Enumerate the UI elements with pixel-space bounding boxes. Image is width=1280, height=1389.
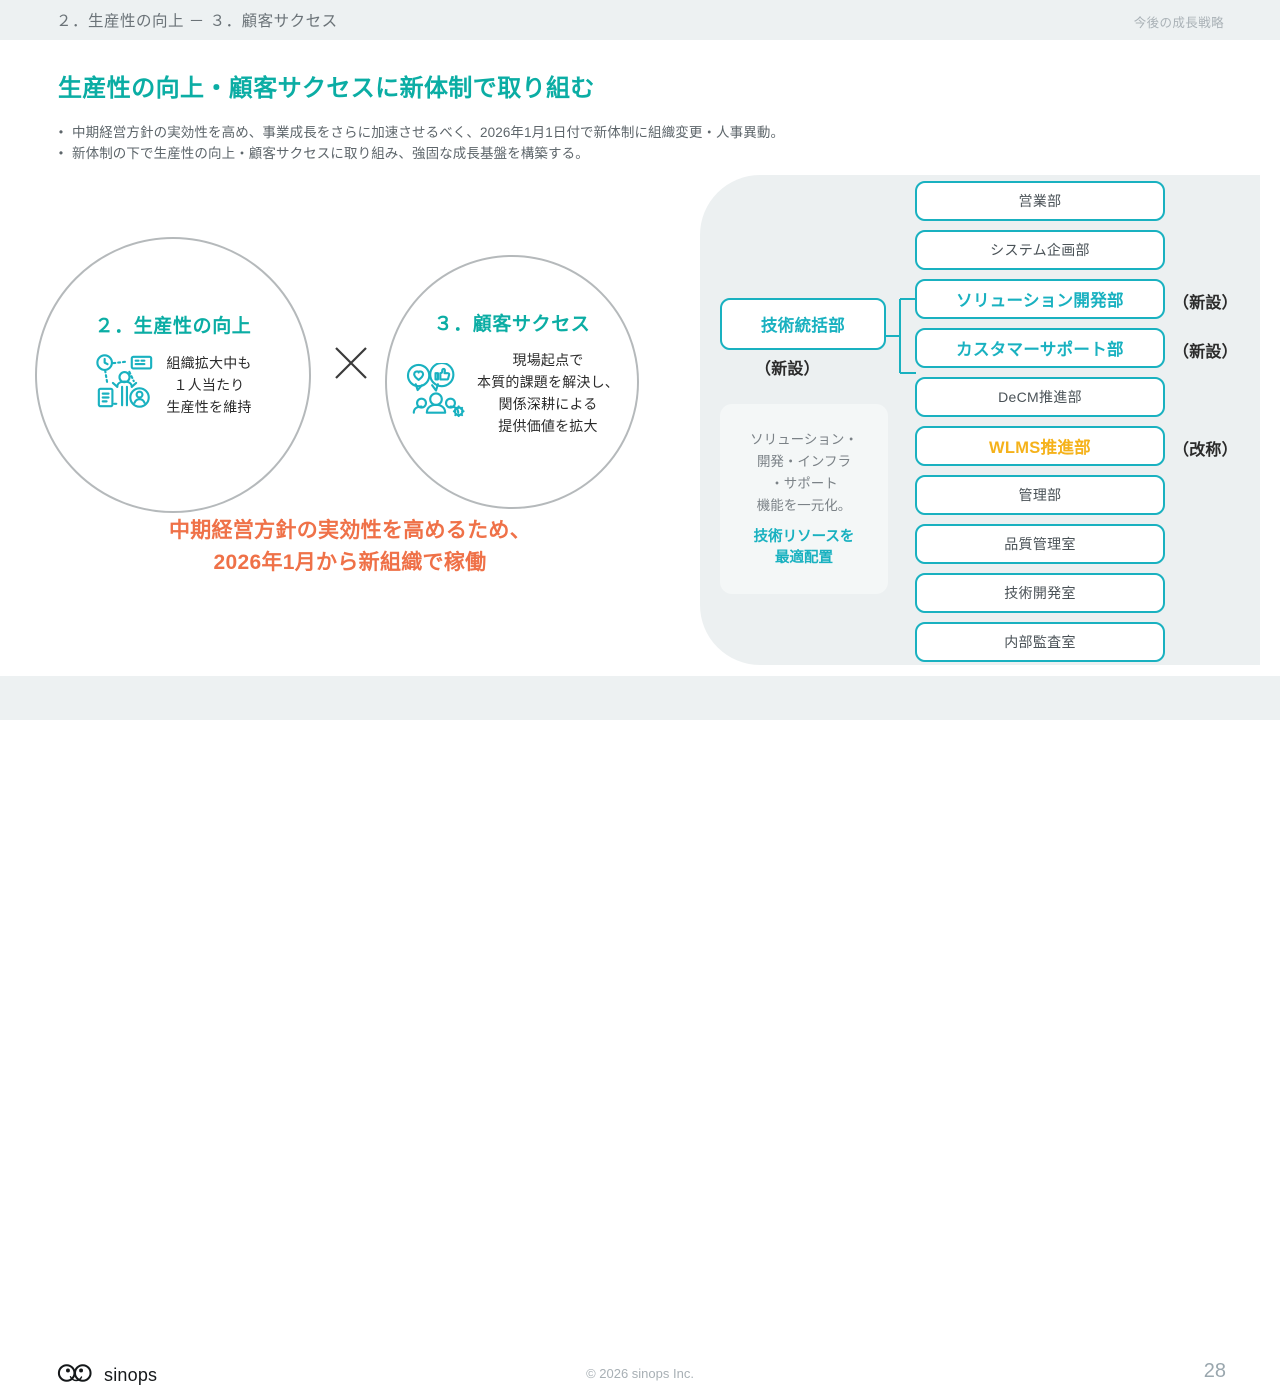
page-number: 28 [1204, 1360, 1226, 1383]
header-section-label: 今後の成長戦略 [1134, 12, 1224, 31]
bullet-item: • 新体制の下で生産性の向上・顧客サクセスに取り組み、強固な成長基盤を構築する。 [50, 143, 784, 164]
header-divider [0, 40, 1280, 41]
circle-customer-success-heading: ３．顧客サクセス [387, 309, 637, 336]
circle-customer-success-body: 現場起点で 本質的課題を解決し、 関係深耕による 提供価値を拡大 [387, 349, 637, 437]
org-department-box[interactable]: システム企画部 [915, 230, 1165, 270]
org-department-box[interactable]: カスタマーサポート部 [915, 328, 1165, 368]
slide-footer: sinops © 2026 sinops Inc. 28 [0, 676, 1280, 720]
org-note-highlight: 技術リソースを 最適配置 [754, 527, 855, 569]
copyright-text: © 2026 sinops Inc. [0, 1366, 1280, 1381]
circle-customer-success-text: 現場起点で 本質的課題を解決し、 関係深耕による 提供価値を拡大 [477, 349, 619, 437]
org-department-box[interactable]: 管理部 [915, 475, 1165, 515]
circle-productivity-heading: ２．生産性の向上 [37, 311, 309, 338]
multiply-icon [330, 342, 372, 384]
circle-productivity: ２．生産性の向上 [35, 237, 311, 513]
bullet-list: • 中期経営方針の実効性を高め、事業成長をさらに加速させるべく、2026年1月1… [50, 122, 784, 164]
org-department-box[interactable]: ソリューション開発部 [915, 279, 1165, 319]
org-parent-tag: （新設） [755, 355, 820, 379]
org-department-tag: （新設） [1173, 338, 1238, 362]
bullet-marker-icon: • [50, 122, 72, 143]
org-department-box[interactable]: WLMS推進部 [915, 426, 1165, 466]
org-department-box[interactable]: 営業部 [915, 181, 1165, 221]
org-department-tag: （改称） [1173, 436, 1238, 460]
org-parent-box-technology-division[interactable]: 技術統括部 [720, 298, 886, 350]
slide-header: ２．生産性の向上 － ３．顧客サクセス 今後の成長戦略 [0, 0, 1280, 40]
productivity-person-icon [94, 351, 156, 418]
slide: ２．生産性の向上 － ３．顧客サクセス 今後の成長戦略 生産性の向上・顧客サクセ… [0, 0, 1280, 720]
org-note-card: ソリューション・ 開発・インフラ ・サポート 機能を一元化。 技術リソースを 最… [720, 404, 888, 594]
cta-message: 中期経営方針の実効性を高めるため、 2026年1月から新組織で稼働 [0, 515, 700, 579]
org-department-box[interactable]: 技術開発室 [915, 573, 1165, 613]
customer-success-icon [405, 363, 467, 424]
org-connector-bracket [886, 297, 918, 375]
org-department-tag: （新設） [1173, 289, 1238, 313]
bullet-text: 中期経営方針の実効性を高め、事業成長をさらに加速させるべく、2026年1月1日付… [72, 122, 784, 143]
org-department-box[interactable]: 内部監査室 [915, 622, 1165, 662]
header-title: ２．生産性の向上 － ３．顧客サクセス [56, 9, 338, 31]
circle-customer-success: ３．顧客サクセス [385, 255, 639, 509]
page-title: 生産性の向上・顧客サクセスに新体制で取り組む [58, 68, 595, 103]
bullet-item: • 中期経営方針の実効性を高め、事業成長をさらに加速させるべく、2026年1月1… [50, 122, 784, 143]
circle-productivity-text: 組織拡大中も １人当たり 生産性を維持 [166, 352, 251, 418]
org-note-text: ソリューション・ 開発・インフラ ・サポート 機能を一元化。 [750, 429, 858, 517]
bullet-text: 新体制の下で生産性の向上・顧客サクセスに取り組み、強固な成長基盤を構築する。 [72, 143, 589, 164]
org-department-box[interactable]: DeCM推進部 [915, 377, 1165, 417]
org-department-box[interactable]: 品質管理室 [915, 524, 1165, 564]
circle-productivity-body: 組織拡大中も １人当たり 生産性を維持 [37, 351, 309, 418]
bullet-marker-icon: • [50, 143, 72, 164]
